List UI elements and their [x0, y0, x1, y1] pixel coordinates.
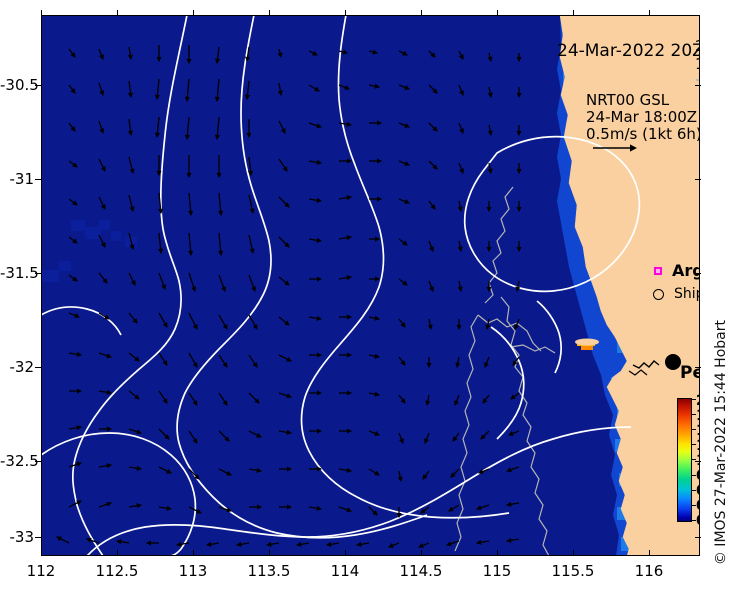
x-tick-bottom	[117, 550, 118, 556]
y-axis-label-32-5: -32.5	[0, 452, 34, 470]
ship-legend-entry: Ship	[653, 286, 700, 302]
colorbar-label-0-5: 0.5	[696, 483, 700, 499]
x-tick-bottom	[269, 550, 270, 556]
x-axis-label-115: 115	[483, 562, 512, 580]
y-tick-left	[35, 179, 41, 180]
map-datetime-title: 24-Mar-2022 20Z	[557, 41, 700, 61]
current-timestamp: 24-Mar 18:00Z	[586, 109, 700, 126]
map-plot-area[interactable]: 24-Mar-2022 20Z 200m 1000m NRT00 GSL 24-…	[41, 15, 700, 556]
x-axis-label-112-5: 112.5	[96, 562, 139, 580]
copyright-notice: © IMOS 27-Mar-2022 15:44 Hobart	[713, 320, 729, 565]
x-tick-bottom	[345, 550, 346, 556]
x-axis-label-115-5: 115.5	[552, 562, 595, 580]
depth-legend-1000m: 1000m	[695, 55, 700, 73]
x-axis-label-113: 113	[179, 562, 208, 580]
x-tick-top	[269, 10, 270, 16]
x-tick-bottom	[573, 550, 574, 556]
x-tick-bottom	[421, 550, 422, 556]
colorbar-label-2: 2	[696, 393, 700, 409]
x-axis-label-112: 112	[27, 562, 56, 580]
y-axis-label-32: -32	[0, 358, 34, 376]
depth-legend-line-sample	[696, 79, 700, 81]
argo-legend-entry: Argo	[654, 261, 700, 280]
y-tick-left	[35, 537, 41, 538]
y-tick-left	[35, 367, 41, 368]
y-tick-right	[695, 273, 701, 274]
x-axis-label-114: 114	[331, 562, 360, 580]
argo-marker-icon	[654, 267, 662, 275]
y-axis-label-30-5: -30.5	[0, 76, 34, 94]
y-axis-label-31: -31	[0, 170, 34, 188]
y-tick-right	[695, 537, 701, 538]
x-tick-top	[497, 10, 498, 16]
colorbar-label-0-25: 0.25	[696, 498, 700, 514]
perth-city-marker-icon	[665, 354, 681, 370]
colorbar-gradient	[677, 398, 692, 522]
x-axis-label-113-5: 113.5	[248, 562, 291, 580]
depth-contour-legend: 200m 1000m	[695, 37, 700, 73]
colorbar-label-0-75: 0.75	[696, 468, 700, 484]
sst-age-map-figure: 24-Mar-2022 20Z 200m 1000m NRT00 GSL 24-…	[0, 0, 740, 592]
current-model-name: NRT00 GSL	[586, 92, 700, 109]
x-axis-label-116: 116	[635, 562, 664, 580]
colorbar-label-1-25: 1.25	[696, 438, 700, 454]
colorbar-label-1-75: 1.75	[696, 408, 700, 424]
x-tick-top	[649, 10, 650, 16]
depth-legend-200m: 200m	[695, 37, 700, 55]
y-tick-right	[695, 85, 701, 86]
y-tick-right	[695, 179, 701, 180]
y-tick-right	[695, 367, 701, 368]
x-tick-top	[345, 10, 346, 16]
colorbar-label-0: 0	[696, 513, 700, 529]
y-axis-label-31-5: -31.5	[0, 264, 34, 282]
x-tick-top	[193, 10, 194, 16]
current-vector-legend: NRT00 GSL 24-Mar 18:00Z 0.5m/s (1kt 6h)	[586, 92, 700, 143]
current-reference-arrow-icon	[592, 142, 638, 154]
x-tick-top	[41, 10, 42, 16]
x-tick-top	[573, 10, 574, 16]
current-scale: 0.5m/s (1kt 6h)	[586, 126, 700, 143]
perth-city-label: Perth	[680, 363, 700, 383]
y-tick-right	[695, 461, 701, 462]
x-axis-label-114-5: 114.5	[400, 562, 443, 580]
x-tick-top	[117, 10, 118, 16]
x-tick-bottom	[497, 550, 498, 556]
x-tick-bottom	[41, 550, 42, 556]
y-axis-label-33: -33	[0, 528, 34, 546]
x-tick-top	[421, 10, 422, 16]
ship-marker-icon	[653, 289, 664, 300]
x-tick-bottom	[193, 550, 194, 556]
colorbar-label-1-5: 1.5	[696, 423, 700, 439]
x-tick-bottom	[649, 550, 650, 556]
colorbar[interactable]	[677, 398, 692, 522]
argo-legend-label: Argo	[672, 261, 700, 280]
ship-legend-label: Ship	[674, 286, 700, 302]
